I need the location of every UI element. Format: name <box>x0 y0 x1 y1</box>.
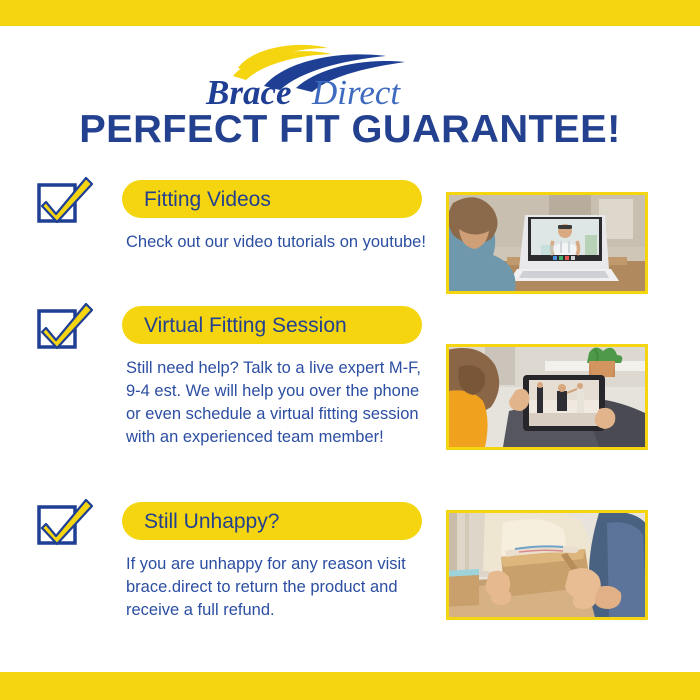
checkmark-box-icon <box>36 176 94 224</box>
pill-label: Virtual Fitting Session <box>122 315 347 336</box>
bottom-yellow-band <box>0 672 700 700</box>
section-virtual-fitting-session: Virtual Fitting Session Still need help?… <box>36 302 436 449</box>
brace-direct-logo: Brace Direct <box>0 40 700 108</box>
pill-label: Still Unhappy? <box>122 511 279 532</box>
checkmark-box-icon <box>36 302 94 350</box>
photo-artwork <box>449 513 645 617</box>
logo-word-brace: Brace <box>205 73 292 108</box>
section-body-text: Still need help? Talk to a live expert M… <box>126 357 432 449</box>
pill-still-unhappy[interactable]: Still Unhappy? <box>122 502 422 540</box>
perfect-fit-guarantee-poster: Brace Direct PERFECT FIT GUARANTEE! Fitt… <box>0 0 700 700</box>
pill-virtual-fitting-session[interactable]: Virtual Fitting Session <box>122 306 422 344</box>
pill-fitting-videos[interactable]: Fitting Videos <box>122 180 422 218</box>
photo-artwork <box>449 195 645 291</box>
photo-woman-holding-tablet-video-session <box>446 344 648 450</box>
checkmark-box-icon <box>36 498 94 546</box>
page-title: PERFECT FIT GUARANTEE! <box>0 108 700 152</box>
section-body-text: Check out our video tutorials on youtube… <box>126 231 432 254</box>
section-header: Still Unhappy? <box>36 498 436 544</box>
photo-laptop-video-call-with-doctor <box>446 192 648 294</box>
logo-artwork: Brace Direct <box>200 42 500 108</box>
top-yellow-band <box>0 0 700 26</box>
pill-label: Fitting Videos <box>122 189 271 210</box>
section-header: Fitting Videos <box>36 176 436 222</box>
section-fitting-videos: Fitting Videos Check out our video tutor… <box>36 176 436 254</box>
photo-handing-over-cardboard-box-return <box>446 510 648 620</box>
section-still-unhappy: Still Unhappy? If you are unhappy for an… <box>36 498 436 622</box>
section-header: Virtual Fitting Session <box>36 302 436 348</box>
photo-artwork <box>449 347 645 447</box>
section-body-text: If you are unhappy for any reason visit … <box>126 553 432 622</box>
logo-word-direct: Direct <box>311 73 401 108</box>
